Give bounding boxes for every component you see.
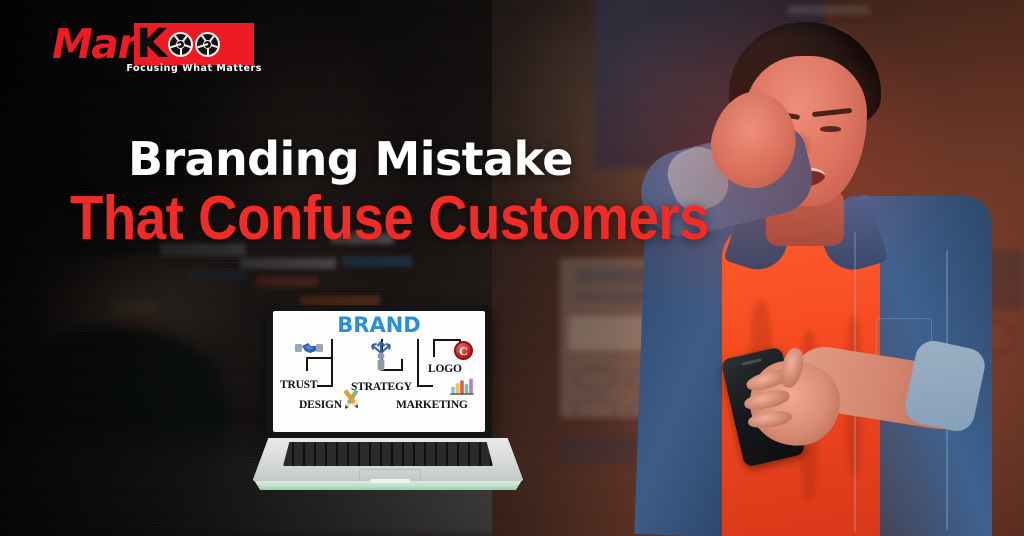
headline-line-1: Branding Mistake (128, 133, 796, 185)
brand-title: BRAND (273, 315, 485, 336)
logo-k-block: K Z (134, 23, 254, 65)
mindmap-connector (433, 339, 461, 341)
mindmap-label-logo: LOGO (428, 363, 462, 375)
banner-root: BRAND (0, 0, 1024, 536)
eye-right (820, 126, 841, 132)
markooz-logo[interactable]: Mar K Z Focusing What Matters (52, 22, 262, 80)
mindmap-connector (417, 385, 433, 387)
color-swatch (342, 256, 412, 267)
mindmap-label-design: DESIGN (299, 399, 342, 411)
headline: Branding Mistake That Confuse Customers (128, 133, 796, 251)
logo-tagline: Focusing What Matters (126, 63, 262, 74)
logo-text-k: K (136, 24, 167, 64)
laptop-lid: BRAND (266, 305, 492, 440)
camera-aperture-icon (195, 32, 220, 57)
bar-chart-icon (449, 377, 475, 395)
mindmap-connector (433, 339, 435, 357)
color-swatch (256, 276, 318, 287)
laptop-latch-notch (370, 479, 410, 483)
color-swatch (240, 258, 336, 269)
logo-text-mar: Mar (52, 24, 136, 65)
mindmap-connector (331, 357, 333, 387)
laptop-screen: BRAND (273, 311, 485, 432)
confused-man-photo (554, 0, 1024, 536)
mindmap-label-marketing: MARKETING (396, 399, 468, 411)
laptop-mockup: BRAND (252, 305, 524, 505)
mindmap-connector (417, 339, 419, 387)
handshake-icon (295, 339, 323, 357)
camera-aperture-icon (168, 32, 193, 57)
logo-text-z: Z (221, 24, 250, 64)
phone-speaker (741, 358, 761, 365)
mindmap-label-trust: TRUST (280, 379, 317, 391)
laptop-keyboard (283, 442, 493, 466)
mindmap-connector (331, 339, 333, 359)
headline-line-2: That Confuse Customers (70, 187, 709, 251)
mindmap-connector (306, 357, 308, 371)
mindmap-label-strategy: STRATEGY (351, 381, 412, 393)
logo-wordmark: Mar K Z (52, 22, 262, 66)
mindmap-connector (306, 357, 333, 359)
mindmap-connector (317, 385, 333, 387)
mindmap-connector (401, 359, 403, 371)
strategy-arrows-icon (368, 337, 394, 371)
copyright-icon: C (454, 341, 473, 360)
